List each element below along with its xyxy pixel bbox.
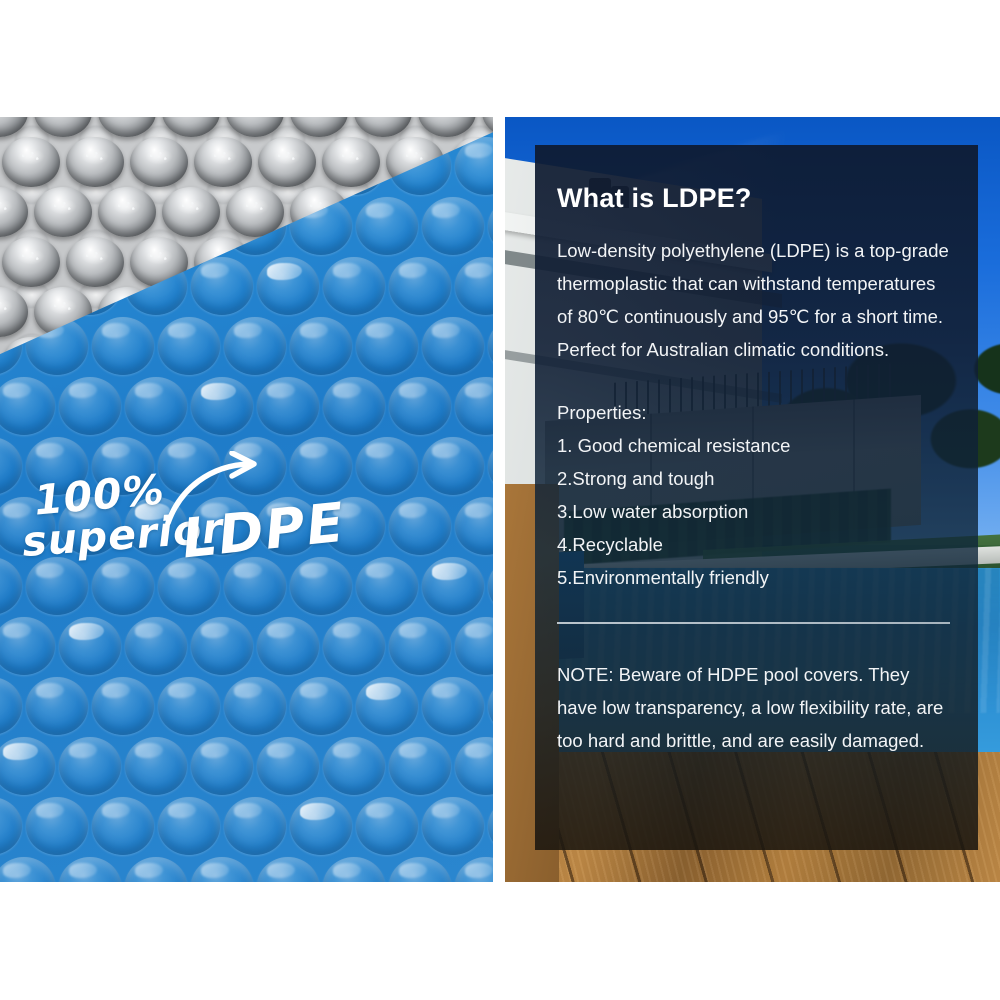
blue-bubble [0, 377, 55, 435]
hdpe-warning-note: NOTE: Beware of HDPE pool covers. They h… [557, 658, 952, 757]
blue-bubble [59, 857, 121, 882]
blue-bubble [92, 557, 154, 615]
silver-bubble [162, 117, 220, 137]
bubble-cover-photo: 100% superior LDPE [0, 117, 493, 882]
blue-bubble [224, 317, 286, 375]
blue-bubble [488, 797, 493, 855]
property-item-1: 1. Good chemical resistance [557, 429, 952, 462]
blue-bubble [488, 197, 493, 255]
ldpe-info-panel: What is LDPE? Low-density polyethylene (… [535, 145, 978, 850]
blue-bubble [26, 677, 88, 735]
blue-bubble [191, 617, 253, 675]
blue-bubble [92, 797, 154, 855]
blue-bubble [257, 257, 319, 315]
blue-bubble [257, 737, 319, 795]
blue-bubble [191, 737, 253, 795]
silver-bubble [2, 237, 60, 287]
blue-bubble [0, 557, 22, 615]
blue-bubble [191, 257, 253, 315]
silver-bubble [226, 117, 284, 137]
blue-bubble [224, 677, 286, 735]
blue-bubble [0, 617, 55, 675]
blue-bubble [257, 617, 319, 675]
blue-bubble [422, 317, 484, 375]
blue-bubble [290, 677, 352, 735]
blue-bubble [455, 257, 493, 315]
blue-bubble [323, 737, 385, 795]
property-item-4: 4.Recyclable [557, 528, 952, 561]
blue-bubble [125, 737, 187, 795]
blue-bubble [191, 857, 253, 882]
silver-bubble [34, 117, 92, 137]
blue-bubble [323, 497, 385, 555]
blue-bubble [422, 437, 484, 495]
blue-bubble [92, 317, 154, 375]
blue-bubble [0, 857, 55, 882]
blue-bubble [59, 737, 121, 795]
ldpe-description: Low-density polyethylene (LDPE) is a top… [557, 234, 952, 366]
blue-bubble [92, 677, 154, 735]
blue-bubble [455, 377, 493, 435]
blue-bubble [488, 557, 493, 615]
section-divider [557, 622, 950, 624]
blue-bubble [356, 317, 418, 375]
silver-bubble [0, 287, 28, 337]
blue-bubble [26, 797, 88, 855]
silver-bubble [130, 137, 188, 187]
blue-bubble [125, 617, 187, 675]
blue-bubble [389, 497, 451, 555]
silver-bubble [322, 137, 380, 187]
blue-bubble [356, 797, 418, 855]
blue-bubble [455, 857, 493, 882]
blue-bubble [158, 437, 220, 495]
blue-bubble [488, 317, 493, 375]
blue-bubble [356, 557, 418, 615]
property-item-2: 2.Strong and tough [557, 462, 952, 495]
blue-bubble [26, 557, 88, 615]
blue-bubble [224, 797, 286, 855]
silver-bubble [162, 187, 220, 237]
blue-bubble [422, 797, 484, 855]
blue-bubble [0, 437, 22, 495]
silver-bubble [98, 187, 156, 237]
blue-bubble [389, 857, 451, 882]
blue-bubble [488, 437, 493, 495]
blue-bubble [488, 677, 493, 735]
blue-bubble [323, 857, 385, 882]
silver-bubble [66, 137, 124, 187]
blue-bubble [224, 437, 286, 495]
blue-bubble [422, 677, 484, 735]
blue-bubble [59, 617, 121, 675]
properties-heading: Properties: [557, 396, 952, 429]
blue-bubble [158, 797, 220, 855]
blue-bubble [0, 677, 22, 735]
blue-bubble [455, 617, 493, 675]
blue-bubble [290, 557, 352, 615]
property-item-3: 3.Low water absorption [557, 495, 952, 528]
blue-bubble [158, 677, 220, 735]
blue-bubble [158, 557, 220, 615]
blue-bubble [356, 197, 418, 255]
silver-bubble [0, 187, 28, 237]
silver-bubble [354, 117, 412, 137]
blue-bubble [125, 377, 187, 435]
blue-bubble [191, 497, 253, 555]
blue-bubble [356, 677, 418, 735]
blue-bubble [290, 797, 352, 855]
blue-bubble [257, 857, 319, 882]
blue-bubble [0, 737, 55, 795]
silver-bubble [418, 117, 476, 137]
blue-bubble [59, 377, 121, 435]
blue-bubble [323, 377, 385, 435]
silver-bubble [258, 137, 316, 187]
blue-bubble [389, 257, 451, 315]
silver-bubble [66, 237, 124, 287]
blue-bubble [455, 497, 493, 555]
silver-bubble [0, 117, 28, 137]
blue-bubble [257, 377, 319, 435]
silver-bubble [194, 137, 252, 187]
blue-bubble [455, 737, 493, 795]
properties-list: 1. Good chemical resistance2.Strong and … [557, 429, 952, 594]
blue-bubble [323, 257, 385, 315]
blue-bubble [389, 737, 451, 795]
blue-bubble [389, 617, 451, 675]
blue-bubble [125, 857, 187, 882]
blue-bubble [26, 437, 88, 495]
infographic-canvas: 100% superior LDPE [0, 0, 1000, 1000]
blue-bubble [389, 377, 451, 435]
blue-bubble [323, 617, 385, 675]
blue-bubble [224, 557, 286, 615]
blue-bubble [125, 497, 187, 555]
blue-bubble [92, 437, 154, 495]
blue-bubble [0, 497, 55, 555]
blue-bubble [59, 497, 121, 555]
silver-bubble [98, 117, 156, 137]
blue-bubble [158, 317, 220, 375]
silver-bubble [226, 187, 284, 237]
blue-bubble [356, 437, 418, 495]
property-item-5: 5.Environmentally friendly [557, 561, 952, 594]
blue-bubble [290, 317, 352, 375]
page-title: What is LDPE? [557, 183, 952, 214]
blue-bubble [290, 437, 352, 495]
silver-bubble [2, 137, 60, 187]
blue-bubble [422, 557, 484, 615]
blue-bubble [191, 377, 253, 435]
blue-bubble [0, 797, 22, 855]
silver-bubble [290, 117, 348, 137]
blue-bubble [422, 197, 484, 255]
blue-bubble [257, 497, 319, 555]
silver-bubble [34, 187, 92, 237]
